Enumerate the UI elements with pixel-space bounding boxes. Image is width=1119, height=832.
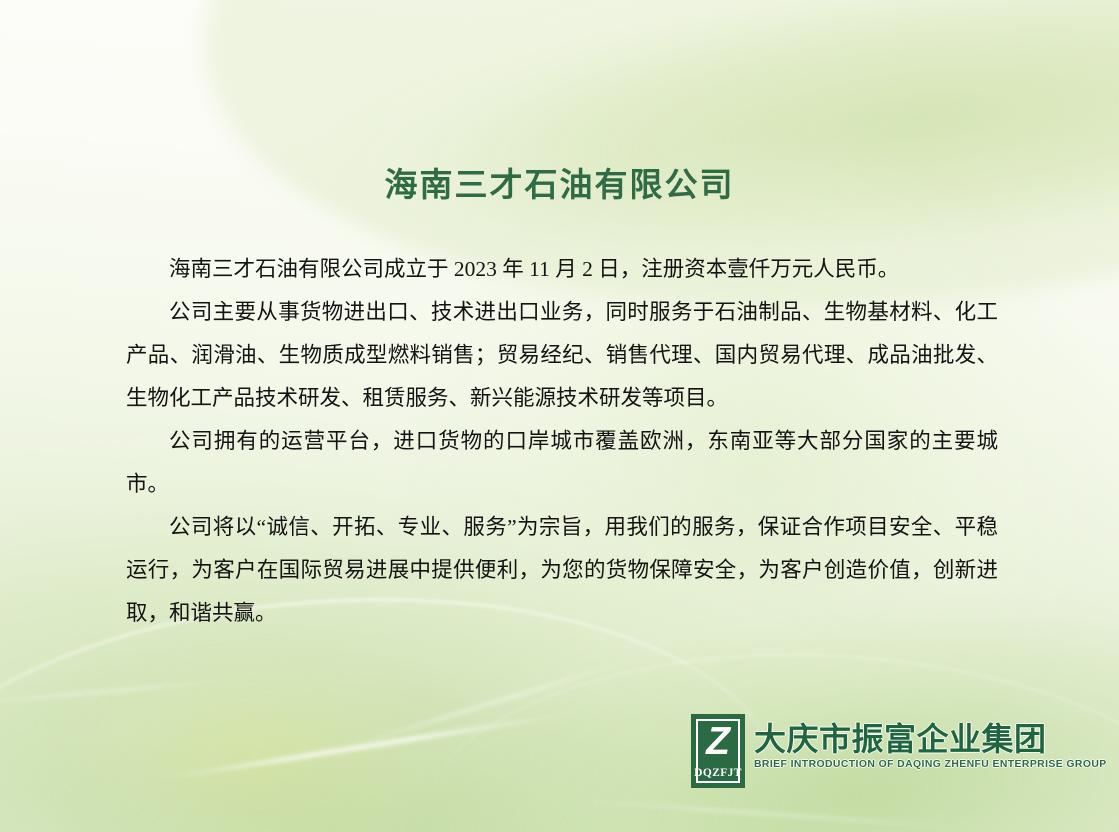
- slide-content: 海南三才石油有限公司 海南三才石油有限公司成立于 2023 年 11 月 2 日…: [0, 0, 1119, 832]
- paragraph-3: 公司拥有的运营平台，进口货物的口岸城市覆盖欧洲，东南亚等大部分国家的主要城市。: [126, 420, 998, 506]
- logo-mark-icon: Z DQZFJT: [691, 714, 745, 788]
- body-text-block: 海南三才石油有限公司成立于 2023 年 11 月 2 日，注册资本壹仟万元人民…: [126, 248, 998, 635]
- paragraph-2: 公司主要从事货物进出口、技术进出口业务，同时服务于石油制品、生物基材料、化工产品…: [126, 291, 998, 420]
- logo-company-name: 大庆市振富企业集团: [754, 722, 1107, 756]
- page-title: 海南三才石油有限公司: [0, 158, 1119, 206]
- paragraph-4: 公司将以“诚信、开拓、专业、服务”为宗旨，用我们的服务，保证合作项目安全、平稳运…: [126, 506, 998, 635]
- logo-z-letter: Z: [691, 721, 745, 762]
- logo-text-block: 大庆市振富企业集团 BRIEF INTRODUCTION OF DAQING Z…: [754, 714, 1107, 770]
- logo-abbreviation: DQZFJT: [691, 767, 745, 779]
- logo-tagline: BRIEF INTRODUCTION OF DAQING ZHENFU ENTE…: [754, 759, 1107, 770]
- slide-page: 海南三才石油有限公司 海南三才石油有限公司成立于 2023 年 11 月 2 日…: [0, 0, 1119, 832]
- company-logo: Z DQZFJT 大庆市振富企业集团 BRIEF INTRODUCTION OF…: [691, 714, 1107, 788]
- paragraph-1: 海南三才石油有限公司成立于 2023 年 11 月 2 日，注册资本壹仟万元人民…: [126, 248, 998, 291]
